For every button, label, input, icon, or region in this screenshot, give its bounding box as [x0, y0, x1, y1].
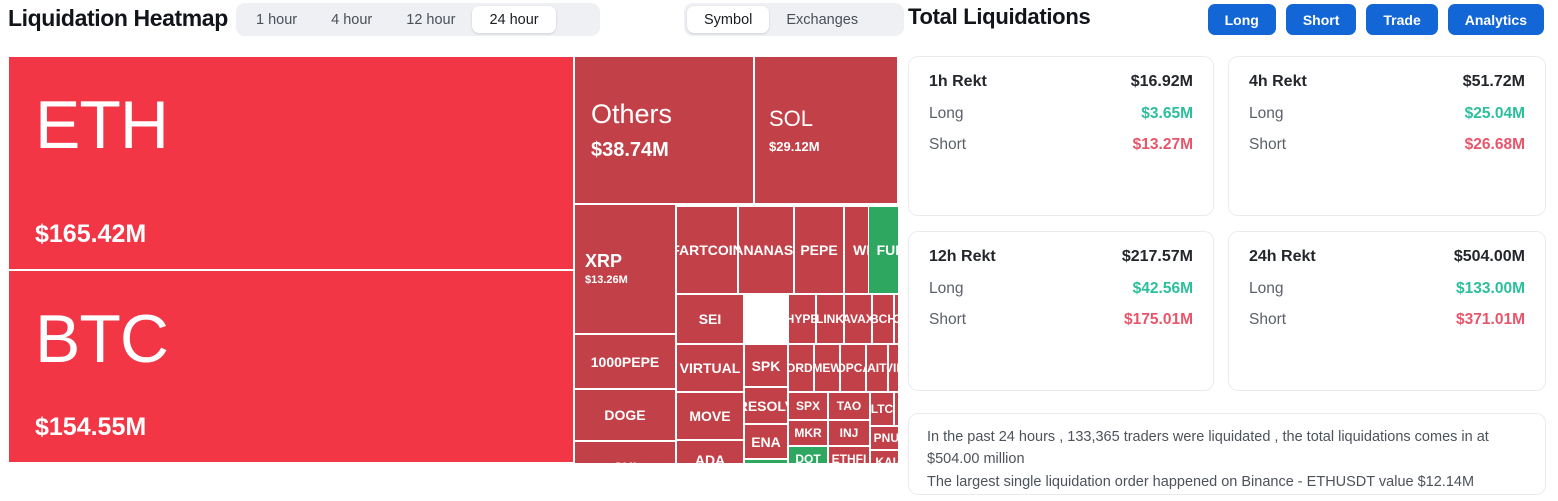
treemap-tile-xrp[interactable]: XRP$13.26M: [574, 204, 676, 334]
stat-long-value: $3.65M: [1141, 105, 1193, 123]
treemap-tile-dot[interactable]: DOT: [788, 446, 828, 463]
treemap-tile-fun[interactable]: FUN: [868, 206, 898, 294]
action-button-analytics[interactable]: Analytics: [1448, 4, 1544, 35]
treemap-tile-sui[interactable]: SUI: [574, 441, 676, 463]
treemap-tile-others[interactable]: Others$38.74M: [574, 56, 754, 204]
treemap-tile-symbol: MOODENG: [894, 313, 898, 325]
treemap-tile-symbol: LTC: [871, 403, 893, 415]
stat-short-label: Short: [929, 136, 966, 154]
treemap-tile-symbol: INJ: [840, 427, 859, 439]
treemap-tile-link[interactable]: LINK: [816, 294, 844, 344]
treemap-tile-symbol: SEI: [699, 312, 722, 326]
stat-total-row: 1h Rekt$16.92M: [929, 73, 1193, 91]
stat-long-label: Long: [1249, 105, 1283, 123]
stat-card-24h-rekt: 24h Rekt$504.00MLong$133.00MShort$371.01…: [1228, 231, 1546, 391]
stat-long-row: Long$42.56M: [929, 280, 1193, 298]
stat-card-12h-rekt: 12h Rekt$217.57MLong$42.56MShort$175.01M: [908, 231, 1214, 391]
treemap-tile-symbol: HYPE: [788, 313, 816, 325]
treemap-tile-symbol: ADA: [695, 453, 725, 463]
treemap-tile-spx[interactable]: SPX: [788, 392, 828, 420]
treemap-tile-uni[interactable]: UNI: [744, 459, 788, 463]
treemap-tile-popcat[interactable]: POPCAT: [840, 344, 866, 392]
timeframe-segmented-control[interactable]: 1 hour4 hour12 hour24 hour: [236, 3, 600, 36]
treemap-tile-ethfi[interactable]: ETHFI: [828, 446, 870, 463]
stat-short-label: Short: [1249, 311, 1286, 329]
liquidation-treemap[interactable]: ETH$165.42MBTC$154.55MOthers$38.74MSOL$2…: [8, 56, 898, 463]
treemap-tile-ada[interactable]: ADA: [676, 440, 744, 463]
stat-total-value: $51.72M: [1463, 73, 1525, 91]
stat-total-row: 24h Rekt$504.00M: [1249, 248, 1525, 266]
stat-card-1h-rekt: 1h Rekt$16.92MLong$3.65MShort$13.27M: [908, 56, 1214, 216]
treemap-tile-ena[interactable]: ENA: [744, 424, 788, 459]
stat-long-value: $133.00M: [1456, 280, 1525, 298]
action-button-group: LongShortTradeAnalytics: [1208, 4, 1544, 35]
treemap-tile-symbol: AVAX: [844, 313, 872, 325]
stat-long-value: $25.04M: [1465, 105, 1525, 123]
treemap-tile-ip[interactable]: IP: [894, 392, 898, 426]
stat-short-value: $175.01M: [1124, 311, 1193, 329]
treemap-tile-symbol: MEW: [814, 362, 840, 374]
page-header: Liquidation Heatmap 1 hour4 hour12 hour2…: [0, 0, 1558, 48]
stat-short-value: $13.27M: [1133, 136, 1193, 154]
treemap-tile-symbol: SOL: [769, 108, 883, 130]
treemap-tile-symbol: MOVE: [689, 409, 730, 423]
stat-title: 12h Rekt: [929, 248, 996, 266]
treemap-tile-vine[interactable]: VINE: [888, 344, 898, 392]
treemap-tile-symbol: ETHFI: [832, 453, 867, 463]
treemap-tile-hype[interactable]: HYPE: [788, 294, 816, 344]
treemap-tile-symbol: MKR: [794, 427, 821, 439]
stat-short-label: Short: [929, 311, 966, 329]
treemap-tile-value: $38.74M: [591, 140, 737, 160]
stat-short-value: $371.01M: [1456, 311, 1525, 329]
treemap-tile-symbol: KAITO: [866, 362, 888, 374]
treemap-tile-resolv[interactable]: RESOLV: [744, 387, 788, 424]
stat-long-value: $42.56M: [1133, 280, 1193, 298]
grouping-tab-symbol[interactable]: Symbol: [687, 6, 769, 33]
treemap-tile-symbol: SPX: [796, 400, 820, 412]
stat-long-row: Long$133.00M: [1249, 280, 1525, 298]
timeframe-tab-1-hour[interactable]: 1 hour: [239, 6, 314, 33]
stat-short-value: $26.68M: [1465, 136, 1525, 154]
treemap-tile-value: $165.42M: [35, 222, 547, 247]
treemap-tile-virtual[interactable]: VIRTUAL: [676, 344, 744, 392]
timeframe-tab-12-hour[interactable]: 12 hour: [389, 6, 472, 33]
treemap-tile-value: $13.26M: [585, 275, 665, 286]
treemap-tile-1000pepe[interactable]: 1000PEPE: [574, 334, 676, 389]
treemap-tile-value: $154.55M: [35, 415, 547, 440]
treemap-tile-doge[interactable]: DOGE: [574, 389, 676, 441]
treemap-tile-symbol: ETH: [35, 91, 547, 159]
treemap-tile-spk[interactable]: SPK: [744, 344, 788, 387]
treemap-tile-symbol: VIRTUAL: [680, 361, 741, 375]
stat-long-row: Long$25.04M: [1249, 105, 1525, 123]
stat-title: 1h Rekt: [929, 73, 987, 91]
treemap-tile-pepe[interactable]: PEPE: [794, 206, 844, 294]
timeframe-tab-24-hour[interactable]: 24 hour: [472, 6, 555, 33]
liquidation-dashboard: Liquidation Heatmap 1 hour4 hour12 hour2…: [0, 0, 1558, 501]
treemap-tile-symbol: 1000PEPE: [591, 355, 660, 369]
treemap-tile-avax[interactable]: AVAX: [844, 294, 872, 344]
action-button-long[interactable]: Long: [1208, 4, 1276, 35]
treemap-tile-value: $29.12M: [769, 140, 883, 153]
stat-long-label: Long: [929, 280, 963, 298]
treemap-tile-mkr[interactable]: MKR: [788, 420, 828, 446]
timeframe-tab-4-hour[interactable]: 4 hour: [314, 6, 389, 33]
treemap-tile-symbol: BTC: [35, 305, 547, 373]
treemap-tile-moodeng[interactable]: MOODENG: [894, 294, 898, 344]
treemap-tile-symbol: SPK: [752, 359, 781, 373]
treemap-tile-symbol: ORDI: [788, 362, 814, 374]
stat-title: 24h Rekt: [1249, 248, 1316, 266]
stat-short-row: Short$175.01M: [929, 311, 1193, 329]
stat-total-row: 4h Rekt$51.72M: [1249, 73, 1525, 91]
stat-total-value: $504.00M: [1454, 248, 1525, 266]
treemap-tile-sol[interactable]: SOL$29.12M: [754, 56, 898, 204]
treemap-tile-tao[interactable]: TAO: [828, 392, 870, 420]
treemap-tile-btc[interactable]: BTC$154.55M: [8, 270, 574, 463]
treemap-tile-symbol: XRP: [585, 252, 665, 270]
page-title: Liquidation Heatmap: [8, 5, 228, 32]
stat-short-label: Short: [1249, 136, 1286, 154]
treemap-tile-inj[interactable]: INJ: [828, 420, 870, 446]
treemap-tile-symbol: PNUT: [874, 432, 898, 444]
treemap-tile-move[interactable]: MOVE: [676, 392, 744, 440]
treemap-tile-bch[interactable]: BCH: [872, 294, 894, 344]
summary-line-2: The largest single liquidation order hap…: [927, 471, 1527, 493]
stat-long-row: Long$3.65M: [929, 105, 1193, 123]
treemap-tile-kaia[interactable]: KAIA: [870, 450, 898, 463]
stat-long-label: Long: [1249, 280, 1283, 298]
stat-total-row: 12h Rekt$217.57M: [929, 248, 1193, 266]
action-button-short[interactable]: Short: [1286, 4, 1357, 35]
summary-panel: In the past 24 hours , 133,365 traders w…: [908, 413, 1546, 495]
treemap-tile-symbol: SUI: [613, 460, 636, 463]
treemap-tile-symbol: TAO: [837, 400, 861, 412]
treemap-tile-symbol: BCH: [872, 313, 894, 325]
stat-total-value: $16.92M: [1131, 73, 1193, 91]
grouping-tab-exchanges[interactable]: Exchanges: [769, 6, 875, 33]
stat-long-label: Long: [929, 105, 963, 123]
treemap-tile-fartcoin[interactable]: FARTCOIN: [676, 206, 738, 294]
treemap-tile-mew[interactable]: MEW: [814, 344, 840, 392]
treemap-tile-sei[interactable]: SEI: [676, 294, 744, 344]
treemap-tile-pnut[interactable]: PNUT: [870, 426, 898, 450]
stat-short-row: Short$371.01M: [1249, 311, 1525, 329]
treemap-tile-symbol: FARTCOIN: [676, 243, 738, 257]
treemap-tile-symbol: Others: [591, 101, 737, 128]
grouping-segmented-control[interactable]: SymbolExchanges: [684, 3, 904, 36]
stat-total-value: $217.57M: [1122, 248, 1193, 266]
treemap-tile-symbol: KAIA: [875, 456, 898, 463]
treemap-tile-symbol: BANANAS31: [738, 243, 794, 257]
treemap-tile-kaito[interactable]: KAITO: [866, 344, 888, 392]
summary-line-1: In the past 24 hours , 133,365 traders w…: [927, 426, 1527, 471]
treemap-tile-symbol: ENA: [751, 435, 781, 449]
treemap-tile-symbol: PEPE: [800, 243, 837, 257]
treemap-tile-bananas31[interactable]: BANANAS31: [738, 206, 794, 294]
treemap-tile-symbol: DOGE: [604, 408, 645, 422]
stat-title: 4h Rekt: [1249, 73, 1307, 91]
treemap-tile-eth[interactable]: ETH$165.42M: [8, 56, 574, 270]
treemap-tile-symbol: DOT: [795, 453, 820, 463]
action-button-trade[interactable]: Trade: [1366, 4, 1437, 35]
treemap-tile-symbol: VINE: [888, 362, 898, 374]
treemap-tile-symbol: RESOLV: [744, 399, 788, 413]
stat-short-row: Short$13.27M: [929, 136, 1193, 154]
treemap-tile-symbol: POPCAT: [840, 362, 866, 374]
treemap-tile-ltc[interactable]: LTC: [870, 392, 894, 426]
treemap-tile-symbol: LINK: [816, 313, 844, 325]
treemap-tile-symbol: FUN: [877, 243, 898, 257]
stat-card-4h-rekt: 4h Rekt$51.72MLong$25.04MShort$26.68M: [1228, 56, 1546, 216]
treemap-tile-ordi[interactable]: ORDI: [788, 344, 814, 392]
total-liquidations-title: Total Liquidations: [908, 4, 1090, 30]
stat-short-row: Short$26.68M: [1249, 136, 1525, 154]
